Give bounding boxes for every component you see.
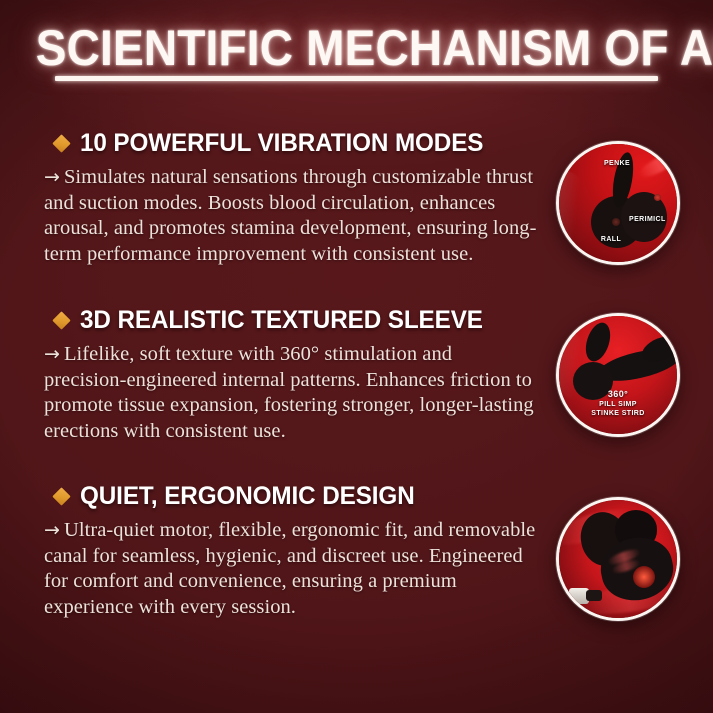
- poster-title-wrap: SCIENTIFIC MECHANISM OF ACTION: [0, 22, 713, 74]
- feature-block-2: 3D REALISTIC TEXTURED SLEEVE →Lifelike, …: [42, 307, 539, 444]
- arrow-icon: →: [44, 166, 64, 188]
- diamond-bullet-icon: [52, 311, 70, 329]
- photo-canvas: 360° PILL SIMP STINKE STIRD: [559, 316, 677, 434]
- product-photo-textured-sleeve: 360° PILL SIMP STINKE STIRD: [556, 313, 680, 437]
- feature-body-2: →Lifelike, soft texture with 360° stimul…: [42, 342, 539, 444]
- arrow-icon: →: [44, 519, 64, 541]
- product-photo-vibration-modes: PENKE PERIMICL RALL: [556, 141, 680, 265]
- title-underline: [55, 76, 658, 81]
- photo-label-1b: PERIMICL: [629, 216, 666, 225]
- feature-body-3: →Ultra-quiet motor, flexible, ergonomic …: [42, 518, 539, 620]
- product-button-icon: [612, 218, 620, 226]
- promo-poster: SCIENTIFIC MECHANISM OF ACTION 10 POWERF…: [0, 0, 713, 713]
- photo-red-streak: [636, 148, 677, 181]
- feature-body-text-3: Ultra-quiet motor, flexible, ergonomic f…: [44, 519, 535, 618]
- feature-body-text-2: Lifelike, soft texture with 360° stimula…: [44, 343, 534, 442]
- feature-heading-row-2: 3D REALISTIC TEXTURED SLEEVE: [42, 307, 539, 334]
- photo-canvas: [559, 500, 677, 618]
- photo-label-2b: PILL SIMP: [599, 401, 637, 410]
- feature-heading-3: QUIET, ERGONOMIC DESIGN: [80, 483, 415, 510]
- feature-heading-1: 10 POWERFUL VIBRATION MODES: [80, 130, 483, 157]
- photo-label-1a: PENKE: [604, 160, 630, 169]
- feature-block-1: 10 POWERFUL VIBRATION MODES →Simulates n…: [42, 130, 539, 267]
- photo-label-2c: STINKE STIRD: [591, 410, 644, 419]
- photo-label-2a: 360°: [608, 390, 628, 399]
- arrow-icon: →: [44, 343, 64, 365]
- page-title: SCIENTIFIC MECHANISM OF ACTION: [36, 22, 713, 74]
- product-accent-dot: [654, 194, 661, 201]
- diamond-bullet-icon: [52, 134, 70, 152]
- feature-heading-2: 3D REALISTIC TEXTURED SLEEVE: [80, 307, 483, 334]
- remote-accent-icon: [586, 590, 602, 601]
- feature-heading-row-3: QUIET, ERGONOMIC DESIGN: [42, 483, 539, 510]
- product-photo-ergonomic-design: [556, 497, 680, 621]
- photo-label-1c: RALL: [601, 236, 621, 245]
- feature-heading-row-1: 10 POWERFUL VIBRATION MODES: [42, 130, 539, 157]
- photo-canvas: PENKE PERIMICL RALL: [559, 144, 677, 262]
- diamond-bullet-icon: [52, 487, 70, 505]
- product-glow-dot: [633, 566, 655, 588]
- feature-block-3: QUIET, ERGONOMIC DESIGN →Ultra-quiet mot…: [42, 483, 539, 620]
- feature-body-text-1: Simulates natural sensations through cus…: [44, 166, 536, 265]
- feature-body-1: →Simulates natural sensations through cu…: [42, 165, 539, 267]
